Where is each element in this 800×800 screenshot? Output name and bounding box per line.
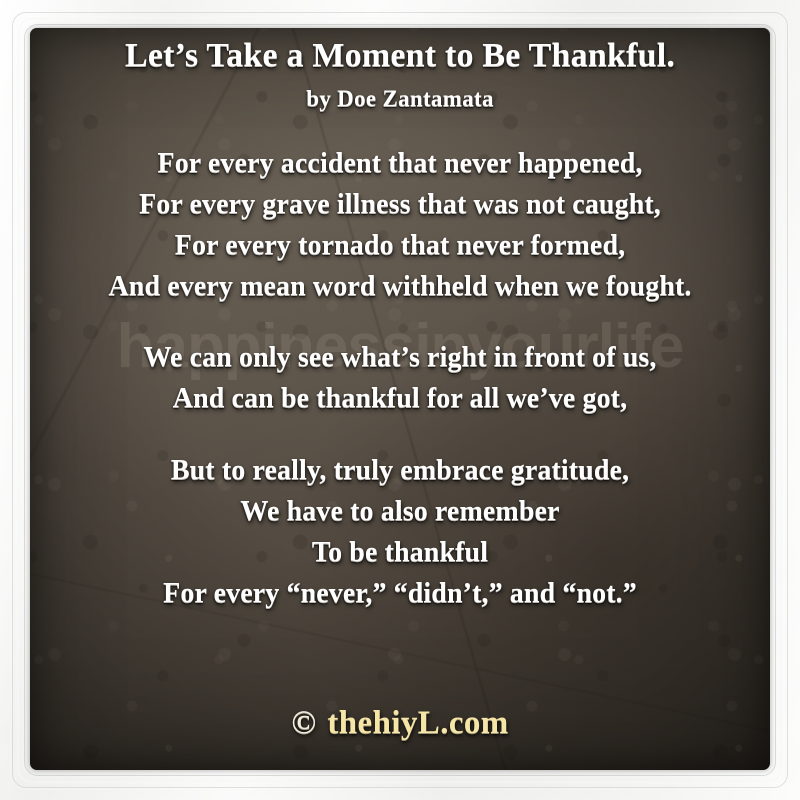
- poem-line: For every accident that never happened,: [0, 143, 800, 184]
- thankfulness-quote-poster: happinessinyourlife Let’s Take a Moment …: [0, 0, 800, 800]
- stanza-1: For every accident that never happened, …: [0, 143, 800, 308]
- site-name-label: thehiyL.com: [327, 705, 508, 742]
- site-credit: © thehiyL.com: [291, 705, 508, 742]
- poem-line: For every “never,” “didn’t,” and “not.”: [0, 573, 800, 614]
- poem-line: And every mean word withheld when we fou…: [0, 266, 800, 307]
- poster-content: Let’s Take a Moment to Be Thankful. by D…: [0, 0, 800, 800]
- poem-line: And can be thankful for all we’ve got,: [0, 378, 800, 419]
- poem-line: But to really, truly embrace gratitude,: [0, 450, 800, 491]
- stanza-2: We can only see what’s right in front of…: [0, 337, 800, 419]
- poster-byline: by Doe Zantamata: [306, 85, 494, 113]
- poem-line: We can only see what’s right in front of…: [0, 337, 800, 378]
- poem-line: For every grave illness that was not cau…: [0, 184, 800, 225]
- poem-line: For every tornado that never formed,: [0, 225, 800, 266]
- poster-title: Let’s Take a Moment to Be Thankful.: [125, 36, 675, 76]
- poem-line: To be thankful: [0, 532, 800, 573]
- poster-footer: © thehiyL.com: [0, 705, 800, 742]
- stanza-3: But to really, truly embrace gratitude, …: [0, 450, 800, 615]
- copyright-icon: ©: [291, 705, 316, 742]
- poem-line: We have to also remember: [0, 491, 800, 532]
